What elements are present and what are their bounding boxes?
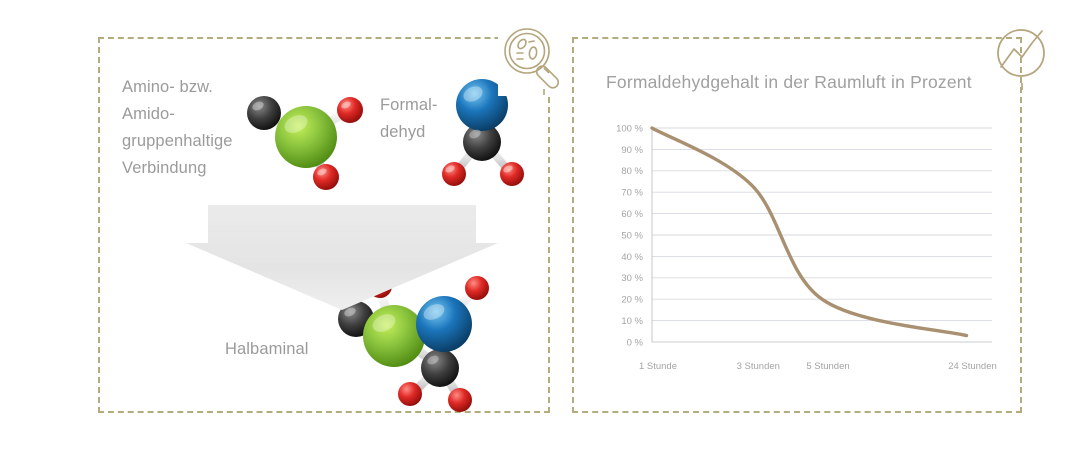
chart-title: Formaldehydgehalt in der Raumluft in Pro… xyxy=(606,72,972,93)
y-axis-tick-label: 30 % xyxy=(621,273,643,284)
line-chart: 100 %90 %80 %70 %60 %50 %40 %30 %20 %10 … xyxy=(600,118,1000,380)
y-axis-tick-label: 40 % xyxy=(621,252,643,263)
y-axis-tick-label: 70 % xyxy=(621,188,643,199)
y-axis-tick-label: 60 % xyxy=(621,209,643,220)
x-axis-tick-label: 24 Stunden xyxy=(948,361,997,372)
y-axis-tick-label: 80 % xyxy=(621,166,643,177)
y-axis-tick-label: 0 % xyxy=(627,337,644,348)
amino-compound-molecule xyxy=(238,82,388,197)
y-axis-tick-label: 100 % xyxy=(616,123,643,134)
y-axis-tick-label: 90 % xyxy=(621,145,643,156)
magnifier-icon xyxy=(498,22,572,96)
x-axis-tick-label: 3 Stunden xyxy=(737,361,780,372)
data-series-line xyxy=(652,128,967,336)
x-axis-tick-label: 1 Stunde xyxy=(639,361,677,372)
reaction-arrow xyxy=(186,205,498,310)
y-axis-tick-label: 50 % xyxy=(621,230,643,241)
y-axis-tick-label: 20 % xyxy=(621,295,643,306)
infographic-canvas: Amino- bzw. Amido- gruppenhaltige Verbin… xyxy=(0,0,1080,462)
x-axis-tick-label: 5 Stunden xyxy=(806,361,849,372)
y-axis-tick-label: 10 % xyxy=(621,316,643,327)
